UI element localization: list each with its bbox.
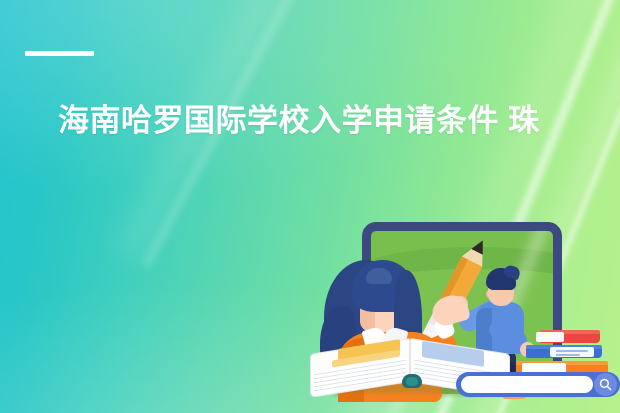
search-icon	[599, 378, 612, 391]
accent-dash	[25, 51, 94, 56]
book-top-pages	[536, 332, 564, 342]
open-book-spine-inner	[406, 377, 418, 386]
book-middle-line-2	[556, 354, 580, 356]
page-title: 海南哈罗国际学校入学申请条件 珠	[58, 101, 620, 141]
cover-image-canvas: 海南哈罗国际学校入学申请条件 珠	[0, 0, 620, 413]
book-middle-line-1	[556, 350, 588, 352]
search-bar[interactable]	[456, 372, 620, 397]
education-illustration	[304, 212, 620, 413]
woman-hair-highlight	[366, 268, 392, 284]
search-button[interactable]	[594, 373, 617, 396]
book-middle-pages	[550, 347, 594, 357]
search-input[interactable]	[461, 376, 593, 393]
